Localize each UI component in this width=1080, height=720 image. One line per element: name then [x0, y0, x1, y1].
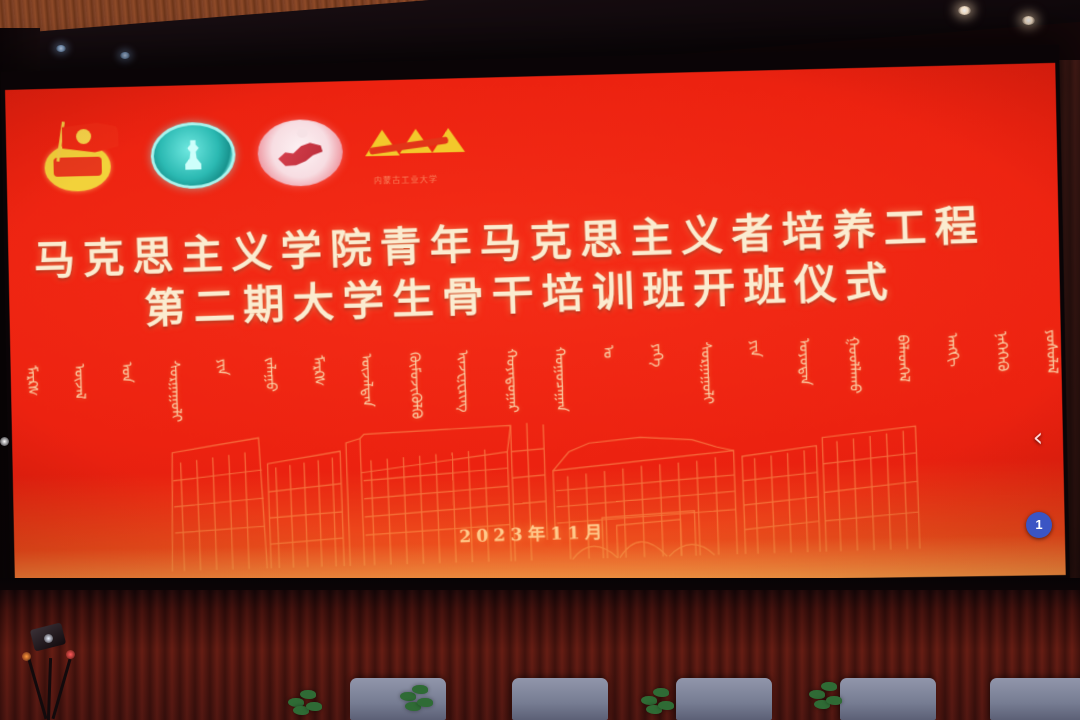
- communist-youth-league-emblem-icon: [36, 120, 130, 196]
- mongolian-column-5: ᠵᠠᠯᠠᠭᠤ: [262, 357, 277, 392]
- yellow-star-logo-icon: 内蒙古工业大学: [364, 111, 453, 190]
- mongolian-column-21: ᠶᠣᠰᠣᠯᠠᠯ: [1043, 329, 1059, 374]
- mongolian-column-15: ᠶᠢᠨ: [747, 340, 762, 358]
- mongolian-column-18: ᠪᠡᠯᠡᠳᠬᠡᠯ: [895, 334, 911, 382]
- university-seal-horse-icon: [257, 119, 343, 187]
- mongolian-column-20: ᠨᠡᠭᠡᠭᠡᠬᠦ: [994, 331, 1010, 372]
- stage-chair: [676, 678, 772, 720]
- ceiling-spotlight: [120, 52, 130, 59]
- stage-chair: [840, 678, 936, 720]
- ceiling-spotlight: [1022, 16, 1035, 25]
- mongolian-column-0: ᠮᠠᠷᠺᠰ: [24, 365, 39, 396]
- ceiling-spotlight: [56, 45, 66, 52]
- stage-plant: [288, 672, 322, 716]
- stage-chair: [512, 678, 608, 720]
- mongolian-column-4: ᠶᠢᠨ: [215, 358, 230, 376]
- stage-plant: [640, 672, 674, 716]
- mongolian-column-6: ᠮᠠᠷᠺᠰ: [310, 355, 325, 387]
- mongolian-column-3: ᠰᠤᠷᠭᠠᠭᠤᠯᠢ: [167, 360, 183, 422]
- page-number-badge[interactable]: 1: [1026, 512, 1052, 538]
- stage-plant: [398, 672, 432, 716]
- mongolian-column-17: ᠭᠣᠣᠯᠯᠠᠬᠤ: [845, 336, 862, 394]
- mongolian-column-16: ᠣᠶᠤᠲᠠᠨ: [796, 338, 812, 386]
- mongolian-column-13: ᠶᠡᠬᠡ: [649, 343, 664, 367]
- mongolian-column-7: ᠦᠵᠡᠯᠲᠡᠨ: [359, 353, 375, 407]
- mongolian-column-11: ᠬᠤᠭᠤᠴᠠᠭᠠᠨ: [552, 347, 569, 413]
- led-screen-frame: 内蒙古工业大学 马克思主义学院青年马克思主义者培养工程 第二期大学生骨干培训班开…: [1, 44, 1071, 602]
- mongolian-column-12: ᠤ: [601, 345, 616, 359]
- lens-flare-dot: [0, 437, 9, 446]
- mongolian-column-14: ᠰᠤᠷᠭᠠᠭᠤᠯᠢ: [698, 341, 715, 404]
- logo-row: 内蒙古工业大学: [36, 111, 454, 197]
- led-screen: 内蒙古工业大学 马克思主义学院青年马克思主义者培养工程 第二期大学生骨干培训班开…: [5, 63, 1066, 590]
- mongolian-column-2: ᠤᠨ: [119, 362, 134, 383]
- banner-title: 马克思主义学院青年马克思主义者培养工程 第二期大学生骨干培训班开班仪式: [7, 196, 1061, 341]
- camera-tripod: [14, 624, 86, 720]
- screenshot-stage: 内蒙古工业大学 马克思主义学院青年马克思主义者培养工程 第二期大学生骨干培训班开…: [0, 0, 1080, 720]
- stage-curtain: [0, 590, 1080, 720]
- prev-image-button[interactable]: ‹: [1026, 423, 1050, 453]
- stage-plant: [808, 672, 842, 716]
- mongolian-column-19: ᠠᠩᠭᠢ: [944, 333, 960, 367]
- ceiling-spotlight: [958, 6, 971, 15]
- university-seal-teal-icon: [150, 121, 236, 189]
- logo-star-caption: 内蒙古工业大学: [374, 174, 438, 187]
- mongolian-column-10: ᠬᠣᠶᠠᠳᠤᠭᠠᠷ: [503, 348, 520, 413]
- mongolian-column-8: ᠬᠦᠮᠦᠵᠢᠭᠦᠯᠬᠦ: [407, 352, 424, 420]
- mongolian-column-9: ᠢᠨᠵᠧᠨᠧᠷᠢᠩ: [455, 350, 472, 413]
- mongolian-column-1: ᠦᠵᠡᠯ: [72, 363, 87, 399]
- stage-chair: [990, 678, 1080, 720]
